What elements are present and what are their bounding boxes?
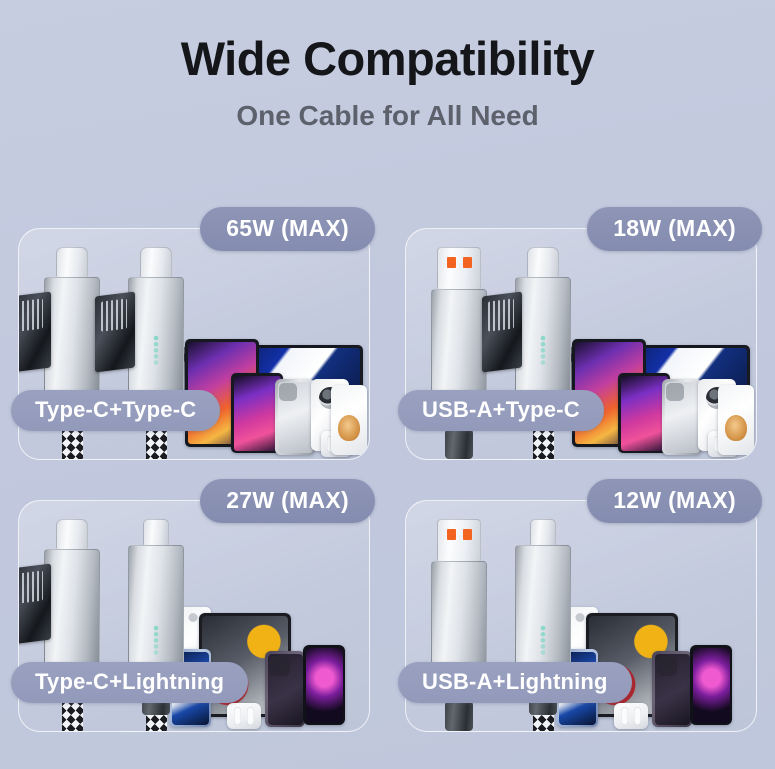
connector-housing <box>128 277 184 395</box>
tablet-screen <box>621 376 668 451</box>
camera-module-icon <box>270 656 290 676</box>
usb-a-contact-pad <box>447 257 456 268</box>
phone-screen <box>306 648 343 723</box>
camera-module-icon <box>657 656 677 676</box>
brand-logo-icon <box>535 624 551 658</box>
usb-c-tip-icon <box>140 247 172 277</box>
usb-c-tip-icon <box>56 519 88 549</box>
usb-a-contact-pad <box>463 529 472 540</box>
brand-logo-icon <box>535 334 551 368</box>
strain-relief <box>445 429 473 459</box>
header: Wide Compatibility One Cable for All Nee… <box>0 0 775 132</box>
device-iphone-magenta <box>303 645 345 725</box>
connector-housing <box>44 549 100 667</box>
device-iphone-purple <box>265 651 305 727</box>
connector-flap-icon <box>19 292 51 373</box>
phone-screen <box>693 648 730 723</box>
brand-logo-icon <box>148 624 164 658</box>
device-airpods-case <box>614 703 648 729</box>
connector-flap-icon <box>95 292 135 373</box>
page-title: Wide Compatibility <box>0 34 775 83</box>
device-iphone-purple <box>652 651 692 727</box>
page-subtitle: One Cable for All Need <box>0 101 775 132</box>
device-phone-gold <box>331 385 367 455</box>
usb-c-tip-icon <box>56 247 88 277</box>
flap-ribs <box>19 571 43 604</box>
device-phone-silver <box>275 379 315 455</box>
brand-logo-icon <box>148 334 164 368</box>
camera-module-icon <box>666 383 684 401</box>
device-airpods-case <box>227 703 261 729</box>
connector-housing <box>44 277 100 395</box>
connector-type-label: Type-C+Lightning <box>11 662 248 703</box>
connector-type-label: USB-A+Type-C <box>398 390 604 431</box>
strain-relief <box>445 701 473 731</box>
lightning-tip-icon <box>143 519 169 545</box>
connector-flap-icon <box>19 564 51 645</box>
power-badge: 65W (MAX) <box>200 207 375 251</box>
lightning-tip-icon <box>530 519 556 545</box>
card-type-c-to-lightning[interactable]: 27W (MAX) Type-C+Lightning <box>18 500 370 732</box>
device-phone-gold <box>718 385 754 455</box>
connector-flap-icon <box>482 292 522 373</box>
device-iphone-magenta <box>690 645 732 725</box>
power-badge: 18W (MAX) <box>587 207 762 251</box>
flap-ribs <box>488 299 514 332</box>
braided-cable <box>533 715 554 731</box>
usb-a-tip-icon <box>437 247 481 289</box>
usb-a-tip-icon <box>437 519 481 561</box>
card-usb-a-to-type-c[interactable]: 18W (MAX) USB-A+Type-C <box>405 228 757 460</box>
power-badge: 12W (MAX) <box>587 479 762 523</box>
tablet-screen <box>234 376 281 451</box>
card-usb-a-to-lightning[interactable]: 12W (MAX) USB-A+Lightning <box>405 500 757 732</box>
connector-type-label: Type-C+Type-C <box>11 390 220 431</box>
usb-a-contact-pad <box>447 529 456 540</box>
connector-housing <box>515 277 571 395</box>
usb-a-contact-pad <box>463 257 472 268</box>
connector-type-label: USB-A+Lightning <box>398 662 632 703</box>
flap-ribs <box>19 299 43 332</box>
power-badge: 27W (MAX) <box>200 479 375 523</box>
flap-ribs <box>101 299 127 332</box>
camera-module-icon <box>279 383 297 401</box>
braided-cable <box>146 715 167 731</box>
usb-c-tip-icon <box>527 247 559 277</box>
card-type-c-to-type-c[interactable]: 65W (MAX) Type-C+Type-C <box>18 228 370 460</box>
compatibility-card-grid: 65W (MAX) Type-C+Type-C <box>18 228 757 740</box>
device-phone-silver <box>662 379 702 455</box>
